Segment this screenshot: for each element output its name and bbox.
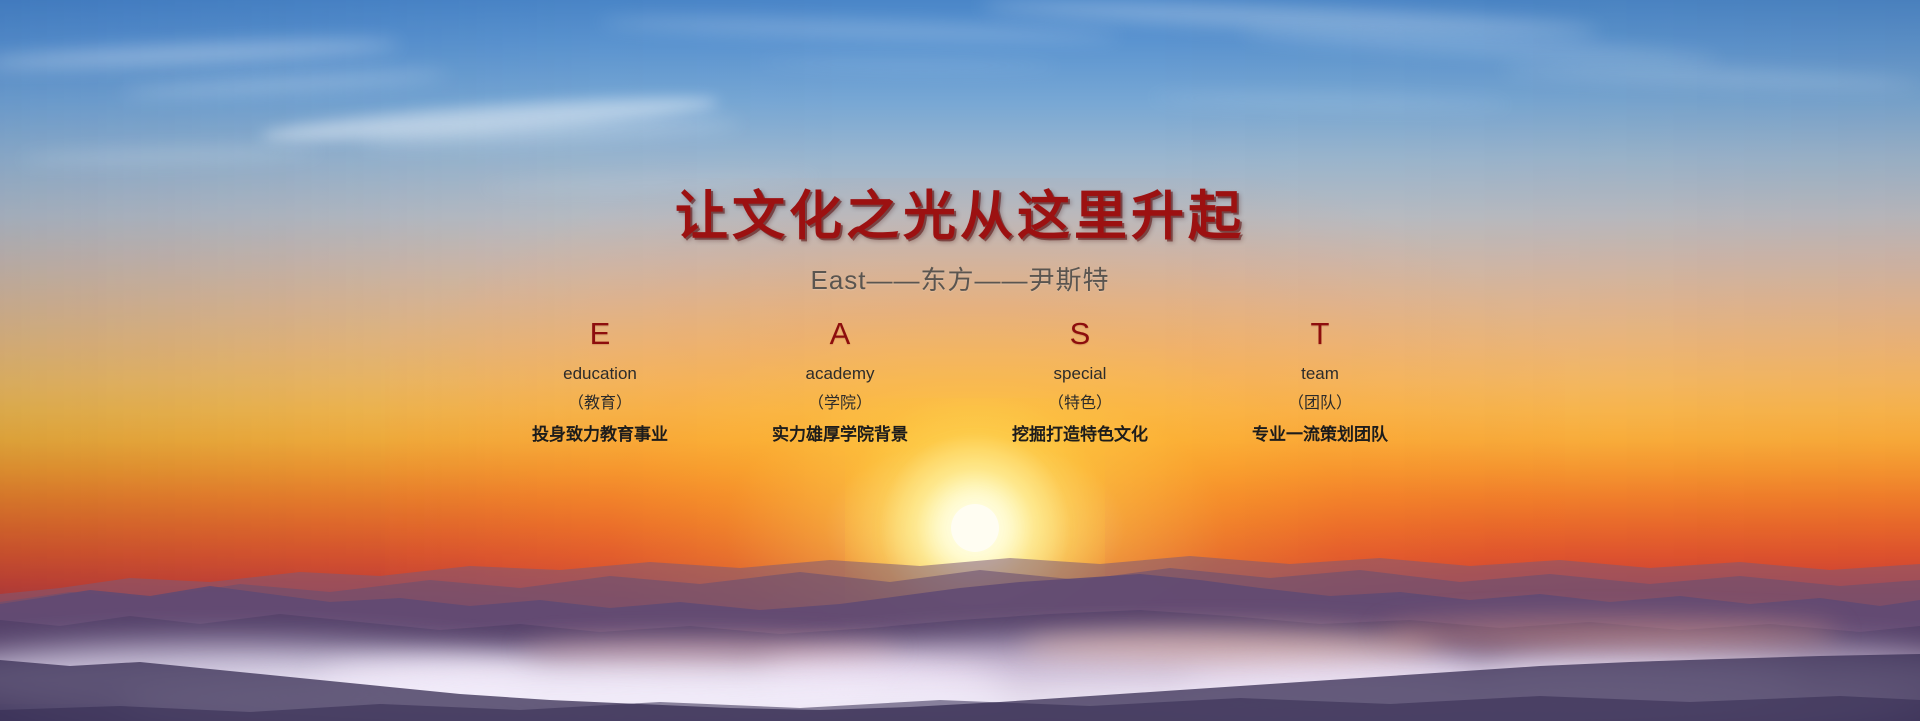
feature-english: team bbox=[1220, 361, 1420, 387]
feature-chinese: （团队） bbox=[1220, 392, 1420, 416]
feature-letter: E bbox=[500, 318, 700, 351]
feature-description: 挖掘打造特色文化 bbox=[980, 422, 1180, 448]
feature-columns: E education （教育） 投身致力教育事业 A academy （学院）… bbox=[500, 318, 1420, 448]
feature-description: 投身致力教育事业 bbox=[500, 422, 700, 448]
feature-column-team[interactable]: T team （团队） 专业一流策划团队 bbox=[1220, 318, 1420, 448]
feature-letter: T bbox=[1220, 318, 1420, 351]
page-title: 让文化之光从这里升起 bbox=[0, 174, 1920, 250]
feature-english: education bbox=[500, 361, 700, 387]
feature-letter: A bbox=[740, 318, 940, 351]
feature-column-special[interactable]: S special （特色） 挖掘打造特色文化 bbox=[980, 318, 1180, 448]
hero-banner: 让文化之光从这里升起 East——东方——尹斯特 E education （教育… bbox=[0, 0, 1920, 721]
feature-column-academy[interactable]: A academy （学院） 实力雄厚学院背景 bbox=[740, 318, 940, 448]
sun-icon bbox=[951, 504, 999, 552]
feature-english: special bbox=[980, 361, 1180, 387]
feature-english: academy bbox=[740, 361, 940, 387]
feature-letter: S bbox=[980, 318, 1180, 351]
feature-column-education[interactable]: E education （教育） 投身致力教育事业 bbox=[500, 318, 700, 448]
feature-chinese: （特色） bbox=[980, 392, 1180, 416]
feature-chinese: （学院） bbox=[740, 392, 940, 416]
page-subtitle: East——东方——尹斯特 bbox=[0, 260, 1920, 297]
feature-chinese: （教育） bbox=[500, 392, 700, 416]
feature-description: 实力雄厚学院背景 bbox=[740, 422, 940, 448]
feature-description: 专业一流策划团队 bbox=[1220, 422, 1420, 448]
